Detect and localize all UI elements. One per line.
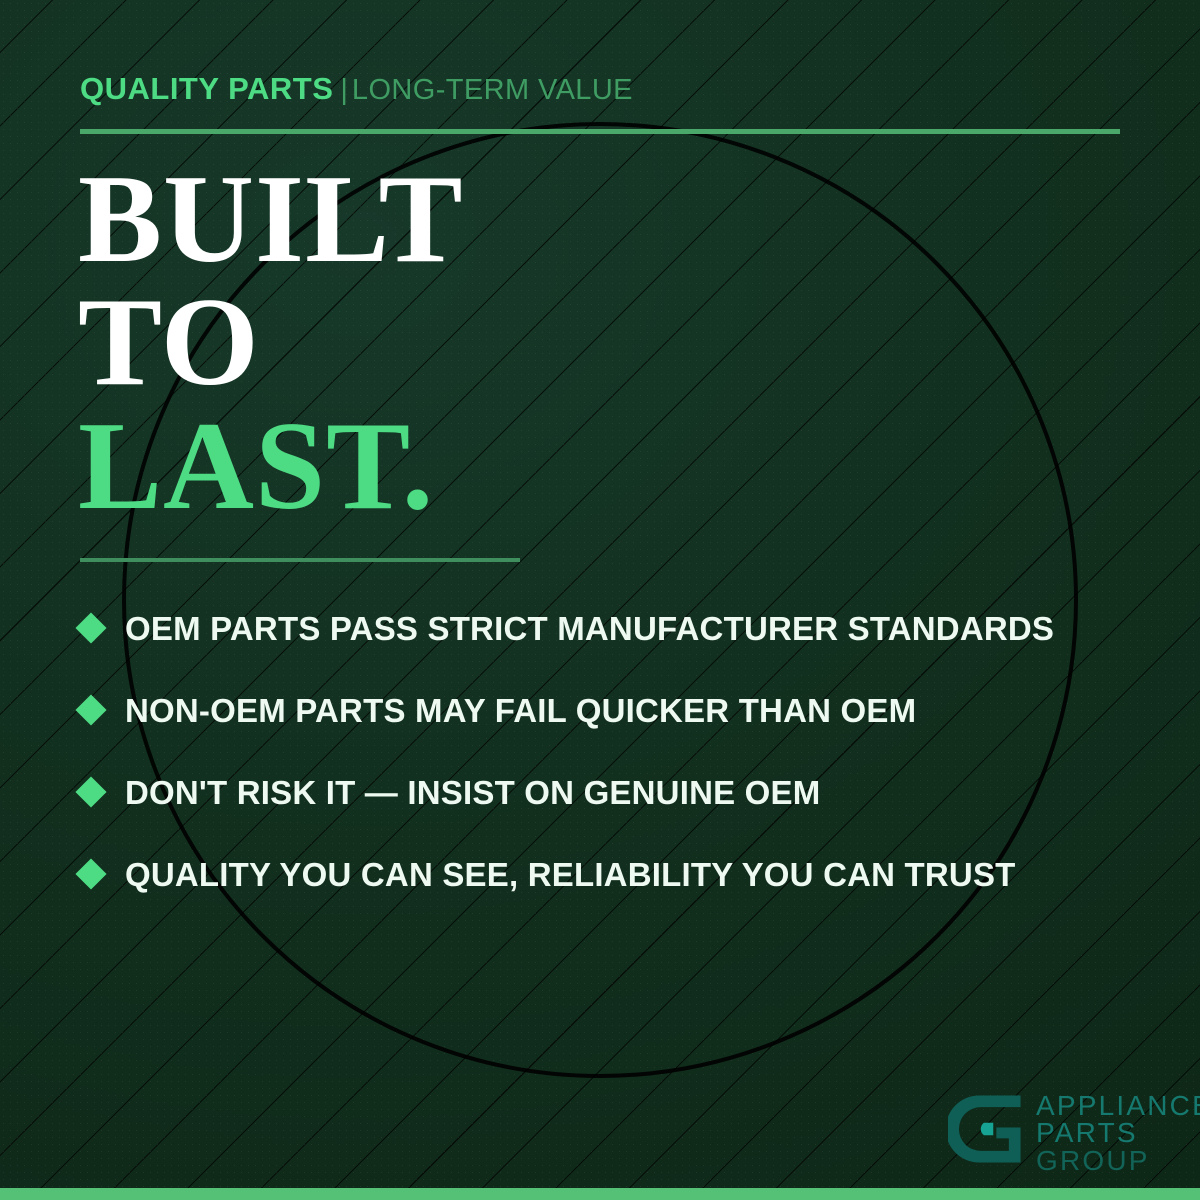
headline: BUILT TO LAST. (78, 158, 464, 528)
poster-content: QUALITY PARTS|LONG-TERM VALUE BUILT TO L… (0, 0, 1200, 1200)
bullet-text: NON-OEM PARTS MAY FAIL QUICKER THAN OEM (125, 694, 916, 727)
list-item: DON'T RISK IT — INSIST ON GENUINE OEM (80, 751, 1140, 833)
diamond-bullet-icon (75, 858, 106, 889)
headline-divider-rule (80, 558, 520, 562)
logo-line-3: GROUP (1036, 1147, 1200, 1174)
kicker-line: QUALITY PARTS|LONG-TERM VALUE (80, 73, 633, 105)
list-item: NON-OEM PARTS MAY FAIL QUICKER THAN OEM (80, 669, 1140, 751)
kicker-strong-text: QUALITY PARTS (80, 71, 333, 106)
kicker-separator: | (333, 74, 352, 106)
headline-line-2: TO (78, 281, 464, 404)
diamond-bullet-icon (75, 776, 106, 807)
bullet-text: DON'T RISK IT — INSIST ON GENUINE OEM (125, 776, 820, 809)
list-item: OEM PARTS PASS STRICT MANUFACTURER STAND… (80, 587, 1140, 669)
diamond-bullet-icon (75, 612, 106, 643)
logo-line-2: PARTS (1036, 1119, 1200, 1146)
brand-logo: APPLIANCE PARTS GROUP (948, 1090, 1200, 1174)
brand-logo-wordmark: APPLIANCE PARTS GROUP (1036, 1090, 1200, 1174)
poster-canvas: QUALITY PARTS|LONG-TERM VALUE BUILT TO L… (0, 0, 1200, 1200)
headline-line-3: LAST. (78, 405, 464, 528)
header-divider-rule (80, 129, 1120, 134)
g-letter-mark-icon (948, 1090, 1026, 1168)
bottom-accent-bar (0, 1188, 1200, 1200)
kicker-light-text: LONG-TERM VALUE (352, 74, 633, 106)
headline-line-1: BUILT (78, 158, 464, 281)
diamond-bullet-icon (75, 694, 106, 725)
bullet-text: OEM PARTS PASS STRICT MANUFACTURER STAND… (125, 612, 1054, 645)
list-item: QUALITY YOU CAN SEE, RELIABILITY YOU CAN… (80, 833, 1140, 915)
bullet-list: OEM PARTS PASS STRICT MANUFACTURER STAND… (80, 587, 1140, 915)
logo-line-1: APPLIANCE (1036, 1092, 1200, 1119)
bullet-text: QUALITY YOU CAN SEE, RELIABILITY YOU CAN… (125, 858, 1016, 891)
